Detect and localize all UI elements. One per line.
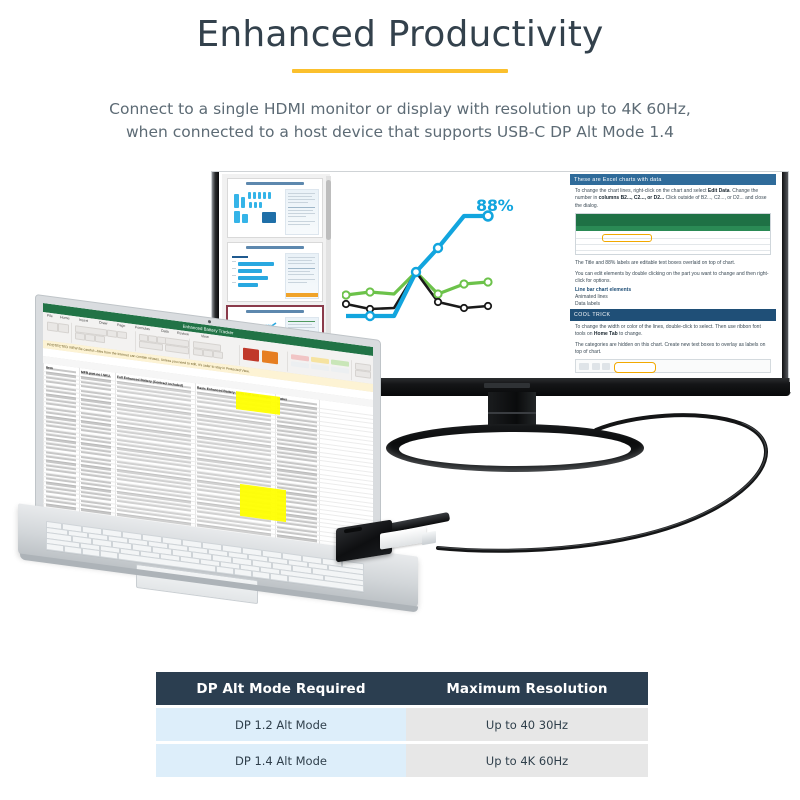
doc-list: Line bar chart elements Animated lines D… xyxy=(570,286,776,309)
cell-highlight-block-2 xyxy=(240,484,286,522)
table-row: DP 1.4 Alt Mode Up to 4K 60Hz xyxy=(156,744,648,777)
product-infographic: Enhanced Productivity Connect to a singl… xyxy=(0,0,800,800)
doc-paragraph-3: You can edit elements by double clicking… xyxy=(570,268,776,286)
ribbon-highlight xyxy=(614,362,656,373)
doc-p4-b: Home Tab xyxy=(594,331,618,337)
title-accent-rule xyxy=(292,69,508,73)
doc-p1-b: Edit Data xyxy=(708,188,730,194)
chart-data-label: 88% xyxy=(476,196,513,215)
thumbnail-graphics xyxy=(232,190,282,232)
doc-p1-d: columns B2..., C2..., or D2... xyxy=(599,195,665,201)
monitor-right-bezel xyxy=(782,172,788,380)
doc-p4-c: to change. xyxy=(618,331,643,337)
table-row: DP 1.2 Alt Mode Up to 40 30Hz xyxy=(156,708,648,741)
cell-resolution-1: Up to 40 30Hz xyxy=(406,708,648,741)
embedded-mini-spreadsheet xyxy=(575,213,771,255)
monitor-stand-seam xyxy=(488,412,536,414)
thumbnail-text-block xyxy=(285,189,319,235)
table-header-max-resolution: Maximum Resolution xyxy=(406,672,648,705)
doc-cool-trick-heading: COOL TRICK xyxy=(570,309,776,320)
doc-ribbon-strip xyxy=(575,359,771,373)
table-header-row: DP Alt Mode Required Maximum Resolution xyxy=(156,672,648,705)
doc-heading: These are Excel charts with data xyxy=(570,174,776,185)
thumbnail-graphics xyxy=(232,254,282,296)
doc-p1-a: To change the chart lines, right-click o… xyxy=(575,188,708,194)
page-subtitle: Connect to a single HDMI monitor or disp… xyxy=(60,98,740,144)
doc-list-item-2: Data labels xyxy=(575,301,771,308)
thumbnail-title-bar xyxy=(246,182,304,185)
spec-table: DP Alt Mode Required Maximum Resolution … xyxy=(156,672,648,777)
monitor-logo xyxy=(484,383,530,388)
usb-c-adapter xyxy=(330,516,448,576)
webcam xyxy=(208,320,211,323)
thumbnail-accent-bar xyxy=(286,293,318,297)
doc-list-heading: Line bar chart elements xyxy=(575,287,771,294)
doc-paragraph-4: To change the width or color of the line… xyxy=(570,321,776,339)
cell-dp-mode-2: DP 1.4 Alt Mode xyxy=(156,744,406,777)
table-header-dp-alt-mode: DP Alt Mode Required xyxy=(156,672,406,705)
list-item[interactable] xyxy=(228,179,322,237)
thumbnail-title-bar xyxy=(246,246,304,249)
list-item[interactable] xyxy=(228,243,322,301)
cell-dp-mode-1: DP 1.2 Alt Mode xyxy=(156,708,406,741)
doc-paragraph-2: The Title and 88% labels are editable te… xyxy=(570,257,776,268)
cell-highlight xyxy=(602,234,652,242)
doc-list-item-1: Animated lines xyxy=(575,294,771,301)
doc-paragraph-5: The categories are hidden on this chart.… xyxy=(570,339,776,357)
usb-c-connector-tip xyxy=(422,531,436,545)
thumbnail-title-bar xyxy=(246,310,304,313)
cell-resolution-2: Up to 4K 60Hz xyxy=(406,744,648,777)
doc-paragraph-1: To change the chart lines, right-click o… xyxy=(570,185,776,211)
instruction-panel: These are Excel charts with data To chan… xyxy=(570,174,776,380)
subtitle-line-2: when connected to a host device that sup… xyxy=(60,121,740,144)
page-title: Enhanced Productivity xyxy=(0,14,800,55)
subtitle-line-1: Connect to a single HDMI monitor or disp… xyxy=(60,98,740,121)
